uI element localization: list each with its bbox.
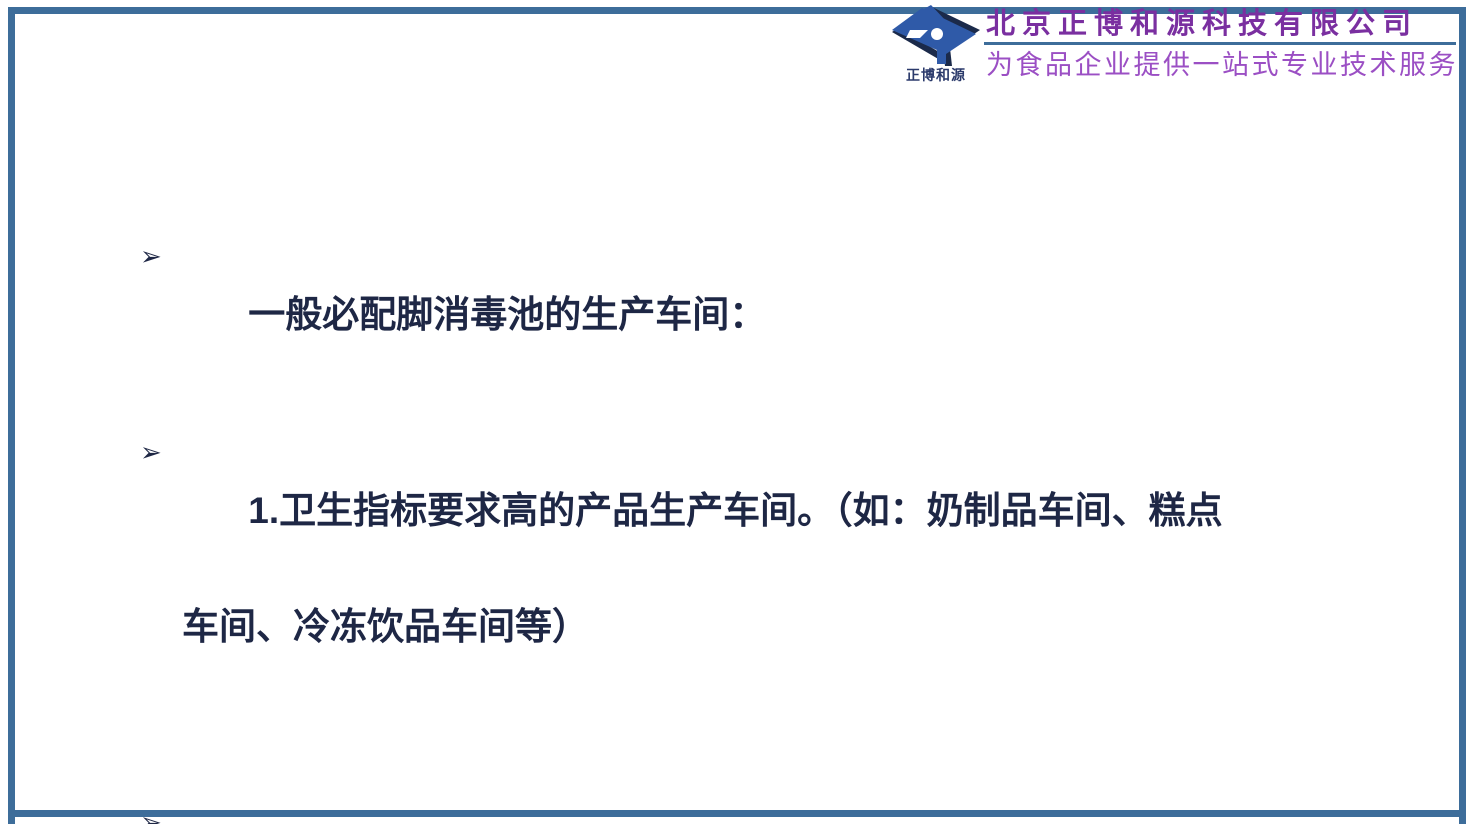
- company-tagline: 为食品企业提供一站式专业技术服务: [984, 50, 1460, 80]
- company-letterhead: 正博和源 北京正博和源科技有限公司 为食品企业提供一站式专业技术服务: [888, 2, 1460, 106]
- bullet-item-text: 2.水汽比较大的、或地面潮湿的车间，比较有利繁殖微生物， 应该配备脚消毒池。（如…: [166, 794, 1410, 824]
- slide-border-left: [8, 7, 15, 824]
- bullet-item: ➢ 一般必配脚消毒池的生产车间：: [140, 228, 1410, 402]
- arrow-bullet-icon: ➢: [140, 424, 166, 482]
- bullet-item-text: 一般必配脚消毒池的生产车间：: [166, 228, 1410, 402]
- letterhead-divider: [984, 42, 1456, 45]
- company-logo: 正博和源: [888, 2, 984, 102]
- bullet-item-text: 1.卫生指标要求高的产品生产车间。（如：奶制品车间、糕点 车间、冷冻饮品车间等）: [166, 424, 1410, 772]
- letterhead-text-block: 北京正博和源科技有限公司 为食品企业提供一站式专业技术服务: [984, 2, 1460, 81]
- bullet-item: ➢ 2.水汽比较大的、或地面潮湿的车间，比较有利繁殖微生物， 应该配备脚消毒池。…: [140, 794, 1410, 824]
- slide-border-right: [1459, 7, 1466, 824]
- slide-body: ➢ 一般必配脚消毒池的生产车间： ➢ 1.卫生指标要求高的产品生产车间。（如：奶…: [140, 228, 1410, 824]
- bullet-line: 一般必配脚消毒池的生产车间：: [248, 294, 766, 335]
- logo-subtext: 正博和源: [892, 70, 980, 84]
- arrow-bullet-icon: ➢: [140, 228, 166, 286]
- company-z-logo-icon: [890, 4, 982, 68]
- bullet-line: 车间、冷冻饮品车间等）: [166, 598, 1410, 656]
- bullet-line: 1.卫生指标要求高的产品生产车间。（如：奶制品车间、糕点: [248, 490, 1222, 531]
- bullet-item: ➢ 1.卫生指标要求高的产品生产车间。（如：奶制品车间、糕点 车间、冷冻饮品车间…: [140, 424, 1410, 772]
- arrow-bullet-icon: ➢: [140, 794, 166, 824]
- presentation-slide: 正博和源 北京正博和源科技有限公司 为食品企业提供一站式专业技术服务 ➢ 一般必…: [0, 0, 1466, 824]
- company-name: 北京正博和源科技有限公司: [984, 8, 1460, 40]
